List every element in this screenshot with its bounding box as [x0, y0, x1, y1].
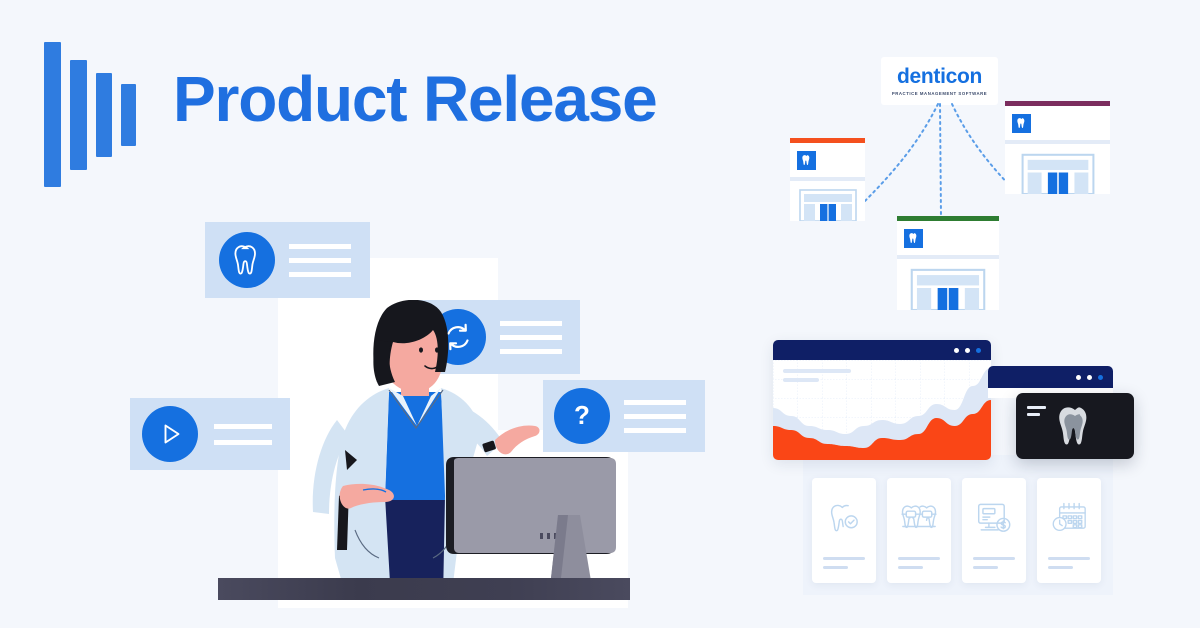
- logo-bar-1: [44, 42, 61, 187]
- tooth-icon: [1012, 114, 1031, 133]
- window-dot-2[interactable]: [965, 348, 970, 353]
- window-title-bar: [988, 366, 1113, 388]
- storefront-icon: [797, 187, 859, 221]
- feature-tile-text-lines: [812, 557, 876, 583]
- window-dot-1[interactable]: [954, 348, 959, 353]
- feature-tile-billing[interactable]: [962, 478, 1026, 583]
- dental-xray-card[interactable]: [1016, 393, 1134, 459]
- svg-text:?: ?: [574, 400, 590, 430]
- feature-tile-text-lines: [962, 557, 1026, 583]
- feature-tile-text-lines: [1037, 557, 1101, 583]
- tooth-icon: [797, 151, 816, 170]
- area-chart-svg: [773, 360, 991, 460]
- practice-storefront: [1005, 144, 1110, 194]
- feature-tile-scheduling[interactable]: [1037, 478, 1101, 583]
- bar-chart-logo-mark: [44, 42, 149, 187]
- page-title: Product Release: [173, 62, 657, 136]
- area-chart: [773, 360, 991, 460]
- tooth-icon: [219, 232, 275, 288]
- window-dot-3[interactable]: [976, 348, 981, 353]
- practice-card-2[interactable]: [897, 216, 999, 310]
- storefront-icon: [1016, 151, 1100, 194]
- feature-tile-preventive[interactable]: [812, 478, 876, 583]
- practice-card-header: [1005, 106, 1110, 140]
- billing-monitor-icon: [962, 478, 1026, 557]
- denticon-logo-card: denticon PRACTICE MANAGEMENT SOFTWARE: [881, 57, 998, 105]
- practice-card-header: [897, 221, 999, 255]
- analytics-chart-window[interactable]: [773, 340, 991, 460]
- window-title-bar: [773, 340, 991, 360]
- feature-card-text-lines: [624, 400, 686, 433]
- denticon-tagline: PRACTICE MANAGEMENT SOFTWARE: [892, 91, 987, 96]
- practice-storefront: [897, 259, 999, 310]
- denticon-wordmark: denticon: [897, 66, 982, 87]
- window-dot-2[interactable]: [1087, 375, 1092, 380]
- braces-icon: [887, 478, 951, 557]
- feature-tile-text-lines: [887, 557, 951, 583]
- practice-card-1[interactable]: [790, 138, 865, 221]
- practice-card-header: [790, 143, 865, 177]
- feature-card-text-lines: [289, 244, 351, 277]
- logo-bar-3: [96, 73, 112, 157]
- window-dot-1[interactable]: [1076, 375, 1081, 380]
- window-dot-3[interactable]: [1098, 375, 1103, 380]
- practice-storefront: [790, 181, 865, 221]
- xray-card-line-1: [1027, 406, 1046, 409]
- logo-bar-4: [121, 84, 136, 146]
- feature-card-tooth[interactable]: [205, 222, 370, 298]
- tooth-icon: [904, 229, 923, 248]
- chart-label-line-2: [783, 378, 819, 382]
- xray-card-line-2: [1027, 413, 1040, 416]
- tooth-xray-icon: [1058, 407, 1092, 447]
- logo-bar-2: [70, 60, 87, 170]
- desktop-monitor: [440, 455, 620, 595]
- feature-tile-orthodontics[interactable]: [887, 478, 951, 583]
- storefront-icon: [907, 266, 989, 310]
- feature-card-play[interactable]: [130, 398, 290, 470]
- scheduling-calendar-icon: [1037, 478, 1101, 557]
- chart-label-line-1: [783, 369, 851, 373]
- play-icon: [142, 406, 198, 462]
- desk-surface: [218, 578, 630, 600]
- practice-card-3[interactable]: [1005, 101, 1110, 194]
- product-release-banner: Product Release: [0, 0, 1200, 628]
- feature-card-text-lines: [214, 424, 272, 445]
- feature-card-help[interactable]: ?: [543, 380, 705, 452]
- tooth-check-icon: [812, 478, 876, 557]
